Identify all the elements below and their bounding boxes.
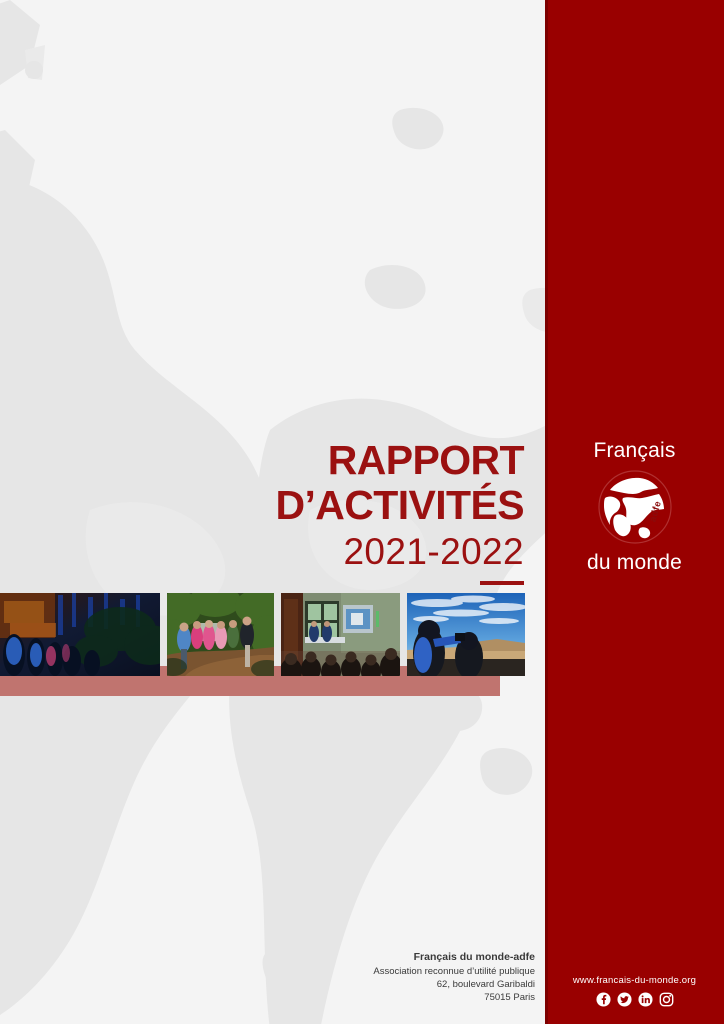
title-line-3: 2021-2022 — [275, 528, 524, 576]
address-city: 75015 Paris — [373, 991, 535, 1004]
linkedin-icon[interactable] — [638, 992, 653, 1007]
logo-top-word: Français — [545, 440, 724, 461]
twitter-icon[interactable] — [617, 992, 632, 1007]
organisation-logo: Français adfe du monde — [545, 440, 724, 573]
address-street: 62, boulevard Garibaldi — [373, 978, 535, 991]
address-block: Français du monde-adfe Association recon… — [373, 951, 535, 1004]
cover-title: RAPPORT D’ACTIVITÉS 2021-2022 — [275, 438, 524, 585]
title-line-1: RAPPORT — [275, 438, 524, 483]
organisation-status: Association reconnue d’utilité publique — [373, 965, 535, 978]
organisation-name: Français du monde-adfe — [373, 951, 535, 964]
photo-night-gathering — [0, 593, 160, 676]
photo-strip — [0, 593, 530, 676]
web-contact-block: www.francais-du-monde.org — [545, 975, 724, 1007]
photo-desert-viewpoint — [407, 593, 525, 676]
social-links-row — [545, 992, 724, 1007]
photo-conference-room — [281, 593, 400, 676]
brand-red-panel: Français adfe du monde www.francais-du-m… — [545, 0, 724, 1024]
globe-icon: adfe — [596, 468, 674, 546]
report-cover: Français adfe du monde www.francais-du-m… — [0, 0, 724, 1024]
photo-group-hike — [167, 593, 274, 676]
facebook-icon[interactable] — [596, 992, 611, 1007]
title-line-2: D’ACTIVITÉS — [275, 483, 524, 528]
website-url[interactable]: www.francais-du-monde.org — [545, 975, 724, 986]
title-underline-rule — [480, 581, 524, 585]
logo-bottom-words: du monde — [545, 552, 724, 573]
instagram-icon[interactable] — [659, 992, 674, 1007]
